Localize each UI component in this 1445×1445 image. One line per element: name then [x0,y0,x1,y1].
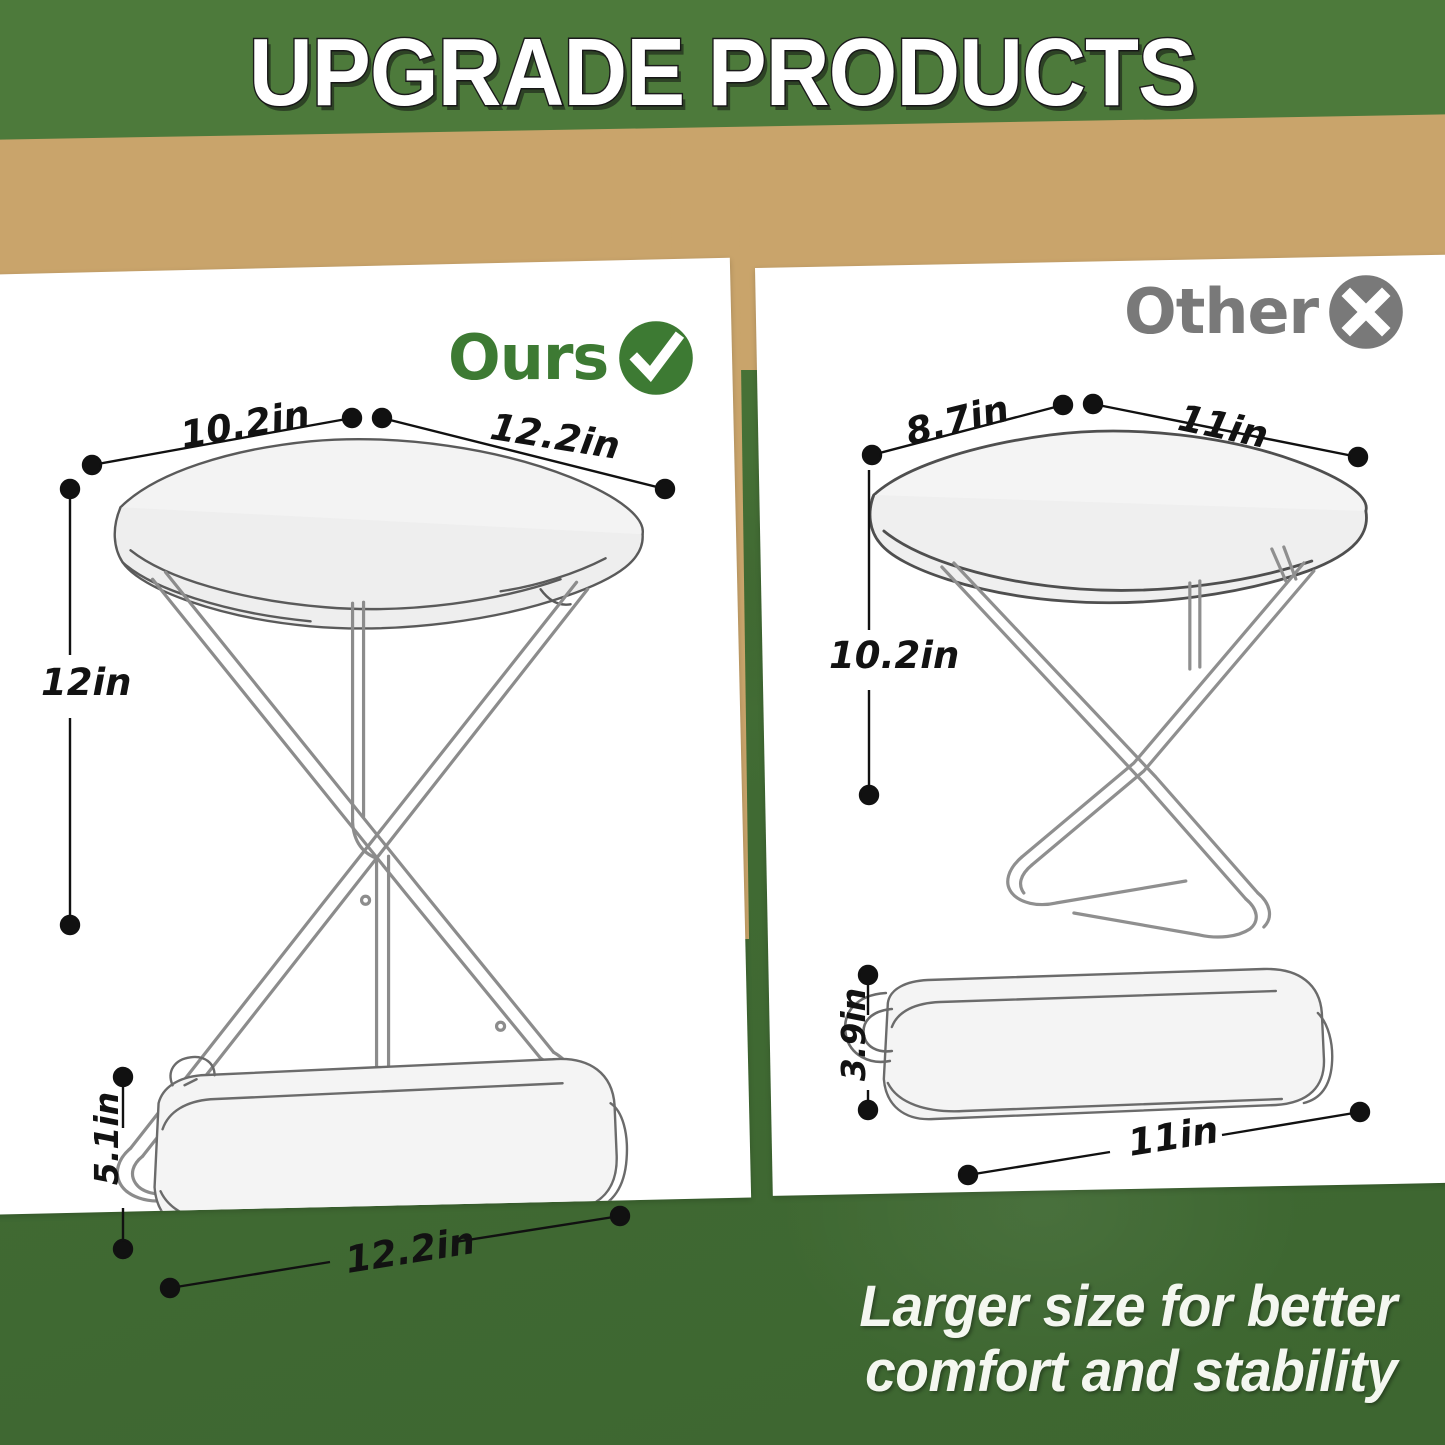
dimension-ours-stool-height: 12in [41,664,132,701]
badge-ours: Ours [448,318,696,398]
infographic-stage: UPGRADE PRODUCTS [0,0,1445,1445]
check-circle-icon [616,318,696,398]
panel-ours [0,258,751,1215]
footer-caption: Larger size for better comfort and stabi… [675,1275,1397,1405]
x-circle-icon [1326,272,1406,352]
badge-ours-label: Ours [448,327,608,389]
dimension-other-stool-height: 10.2in [829,637,959,674]
footer-caption-line1: Larger size for better [675,1275,1397,1340]
footer-caption-line2: comfort and stability [675,1340,1397,1405]
panel-ours-content [0,266,741,1206]
dimension-other-bag-height: 3.9in [837,988,870,1081]
ours-bag-drawing [101,1041,661,1215]
badge-other: Other [1124,272,1406,352]
other-bag-drawing [836,961,1356,1151]
page-title: UPGRADE PRODUCTS [58,18,1387,128]
badge-other-label: Other [1124,281,1318,343]
dimension-ours-bag-height: 5.1in [90,1092,123,1185]
